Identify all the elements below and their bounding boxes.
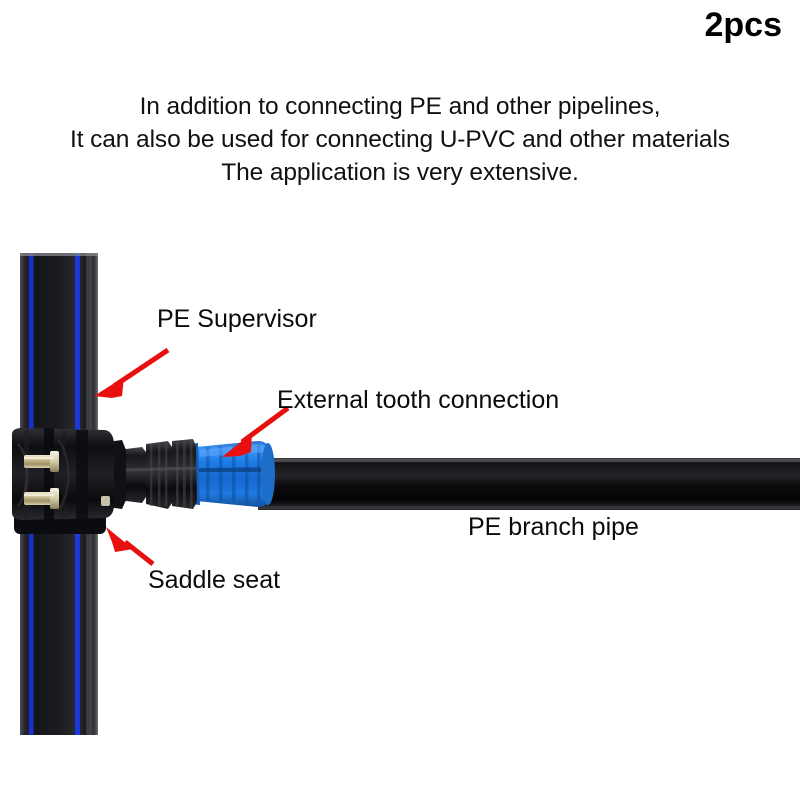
branch-pipe-top-highlight (258, 459, 800, 462)
arrow-pe-supervisor (94, 350, 168, 398)
connector-thread-grooves (150, 440, 193, 508)
callout-label-saddle-seat: Saddle seat (148, 568, 280, 593)
saddle-curve-left (18, 444, 27, 506)
compression-nut-collar (190, 443, 200, 505)
compression-nut-sheen (200, 444, 267, 457)
main-pipe-top-edge (20, 253, 98, 256)
compression-nut-ribs (196, 436, 272, 512)
arrow-external-tooth (222, 408, 288, 457)
compression-nut-parting-line (197, 468, 270, 470)
description-line-3: The application is very extensive. (0, 156, 800, 189)
main-pipe-stripe-left (29, 253, 34, 735)
main-pipe-body (20, 253, 98, 735)
connector-center-ridge (120, 468, 196, 470)
compression-nut-group (190, 436, 275, 512)
branch-pipe-group (258, 458, 800, 510)
connector-root-flange (100, 440, 126, 509)
callout-label-external-tooth: External tooth connection (277, 388, 559, 413)
saddle-clamp-ribs (24, 428, 88, 520)
arrow-saddle-seat (106, 527, 153, 564)
branch-pipe-body (258, 458, 800, 510)
callout-label-pe-branch-pipe: PE branch pipe (468, 515, 639, 540)
saddle-band-top (14, 432, 106, 454)
thread-connector-group (100, 439, 197, 509)
saddle-clamp-group (12, 428, 114, 534)
saddle-curve-mid (58, 440, 69, 510)
connector-hex-section (118, 447, 146, 503)
clamp-bolt-bottom (24, 488, 59, 509)
description-line-2: It can also be used for connecting U-PVC… (0, 123, 800, 156)
main-pipe-stripe-right (75, 253, 80, 735)
connector-mid-section (146, 441, 172, 509)
description-line-1: In addition to connecting PE and other p… (0, 90, 800, 123)
main-pipe-highlight (86, 253, 92, 735)
compression-nut-cap (261, 443, 275, 505)
callout-label-pe-supervisor: PE Supervisor (157, 307, 317, 332)
branch-pipe-bottom-highlight (258, 506, 800, 509)
callout-arrows (94, 350, 288, 564)
product-diagram-page: 2pcs In addition to connecting PE and ot… (0, 0, 800, 800)
quantity-badge: 2pcs (705, 8, 783, 42)
connector-thread-section (172, 439, 197, 509)
description-block: In addition to connecting PE and other p… (0, 90, 800, 189)
main-pipe-group (20, 253, 98, 735)
saddle-band-bottom (14, 512, 106, 534)
saddle-clamp-body (12, 428, 114, 520)
saddle-seat-tab (101, 496, 110, 506)
compression-nut-body (196, 441, 271, 507)
clamp-bolt-top (24, 451, 59, 472)
